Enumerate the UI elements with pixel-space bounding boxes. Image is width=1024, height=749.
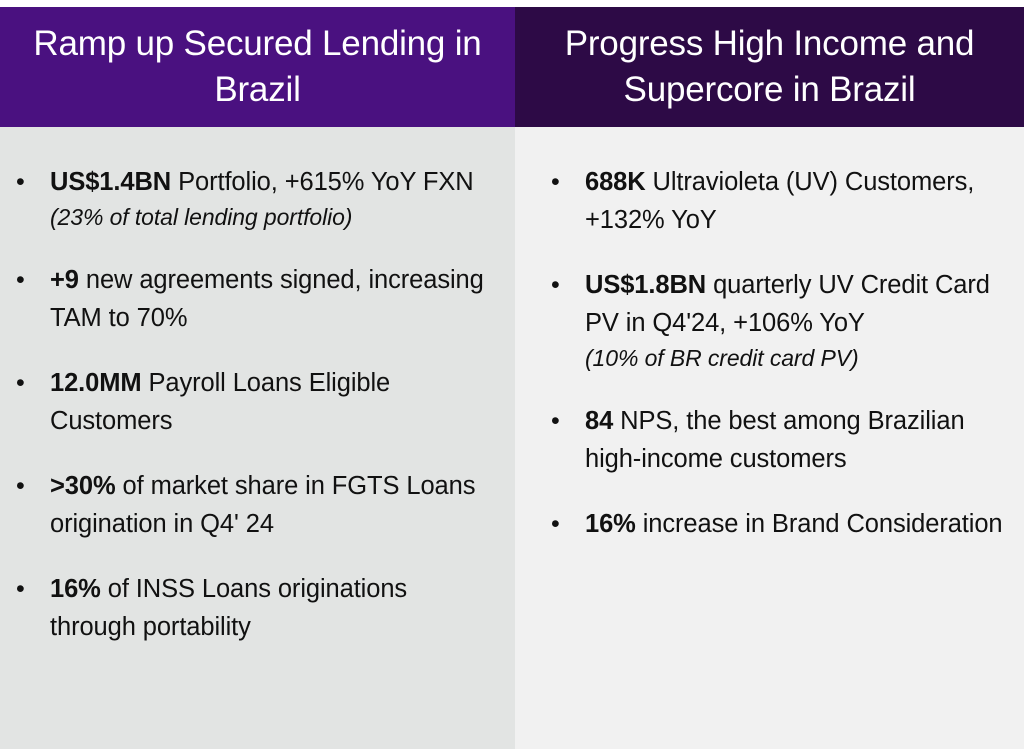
panel-title-left: Ramp up Secured Lending in Brazil (14, 21, 501, 113)
bullet-text: US$1.4BN Portfolio, +615% YoY FXN (23% o… (50, 163, 499, 234)
bullet-dot-icon: • (10, 364, 50, 402)
bullet-rest: Portfolio, +615% YoY FXN (171, 168, 474, 196)
list-item: • >30% of market share in FGTS Loans ori… (10, 467, 499, 543)
bullet-list-left: • US$1.4BN Portfolio, +615% YoY FXN (23%… (10, 163, 499, 646)
bullet-text: 84 NPS, the best among Brazilian high-in… (585, 402, 1006, 478)
list-item: • 16% increase in Brand Consideration (543, 505, 1006, 543)
bullet-text: 12.0MM Payroll Loans Eligible Customers (50, 364, 499, 440)
panel-header-right: Progress High Income and Supercore in Br… (515, 7, 1024, 127)
bullet-rest: increase in Brand Consideration (636, 510, 1003, 538)
bullet-note: (23% of total lending portfolio) (50, 201, 499, 234)
bullet-lead: 688K (585, 168, 646, 196)
bullet-text: 16% of INSS Loans originations through p… (50, 570, 499, 646)
bullet-dot-icon: • (10, 261, 50, 299)
bullet-dot-icon: • (543, 266, 585, 304)
bullet-dot-icon: • (10, 467, 50, 505)
bullet-text: >30% of market share in FGTS Loans origi… (50, 467, 499, 543)
list-item: • +9 new agreements signed, increasing T… (10, 261, 499, 337)
bullet-text: 688K Ultravioleta (UV) Customers, +132% … (585, 163, 1006, 239)
bullet-rest: new agreements signed, increasing TAM to… (50, 266, 484, 332)
bullet-rest: NPS, the best among Brazilian high-incom… (585, 407, 965, 473)
bullet-lead: US$1.4BN (50, 168, 171, 196)
column-secured-lending: Ramp up Secured Lending in Brazil • US$1… (0, 7, 515, 749)
slide-root: Ramp up Secured Lending in Brazil • US$1… (0, 0, 1024, 749)
panel-body-right: • 688K Ultravioleta (UV) Customers, +132… (515, 127, 1024, 749)
bullet-dot-icon: • (10, 163, 50, 201)
bullet-lead: US$1.8BN (585, 271, 706, 299)
list-item: • 16% of INSS Loans originations through… (10, 570, 499, 646)
panel-body-left: • US$1.4BN Portfolio, +615% YoY FXN (23%… (0, 127, 515, 749)
bullet-text: US$1.8BN quarterly UV Credit Card PV in … (585, 266, 1006, 375)
panel-header-left: Ramp up Secured Lending in Brazil (0, 7, 515, 127)
list-item: • US$1.8BN quarterly UV Credit Card PV i… (543, 266, 1006, 375)
bullet-lead: +9 (50, 266, 79, 294)
bullet-rest: of INSS Loans originations through porta… (50, 575, 407, 641)
bullet-note: (10% of BR credit card PV) (585, 342, 1006, 375)
bullet-dot-icon: • (10, 570, 50, 608)
bullet-lead: 84 (585, 407, 613, 435)
bullet-dot-icon: • (543, 163, 585, 201)
list-item: • US$1.4BN Portfolio, +615% YoY FXN (23%… (10, 163, 499, 234)
bullet-dot-icon: • (543, 505, 585, 543)
column-high-income: Progress High Income and Supercore in Br… (515, 7, 1024, 749)
bullet-lead: 16% (50, 575, 101, 603)
bullet-lead: >30% (50, 472, 116, 500)
bullet-lead: 12.0MM (50, 369, 142, 397)
bullet-text: +9 new agreements signed, increasing TAM… (50, 261, 499, 337)
bullet-text: 16% increase in Brand Consideration (585, 505, 1006, 543)
bullet-lead: 16% (585, 510, 636, 538)
list-item: • 12.0MM Payroll Loans Eligible Customer… (10, 364, 499, 440)
list-item: • 688K Ultravioleta (UV) Customers, +132… (543, 163, 1006, 239)
list-item: • 84 NPS, the best among Brazilian high-… (543, 402, 1006, 478)
bullet-dot-icon: • (543, 402, 585, 440)
bullet-list-right: • 688K Ultravioleta (UV) Customers, +132… (543, 163, 1006, 543)
panel-title-right: Progress High Income and Supercore in Br… (529, 21, 1010, 113)
